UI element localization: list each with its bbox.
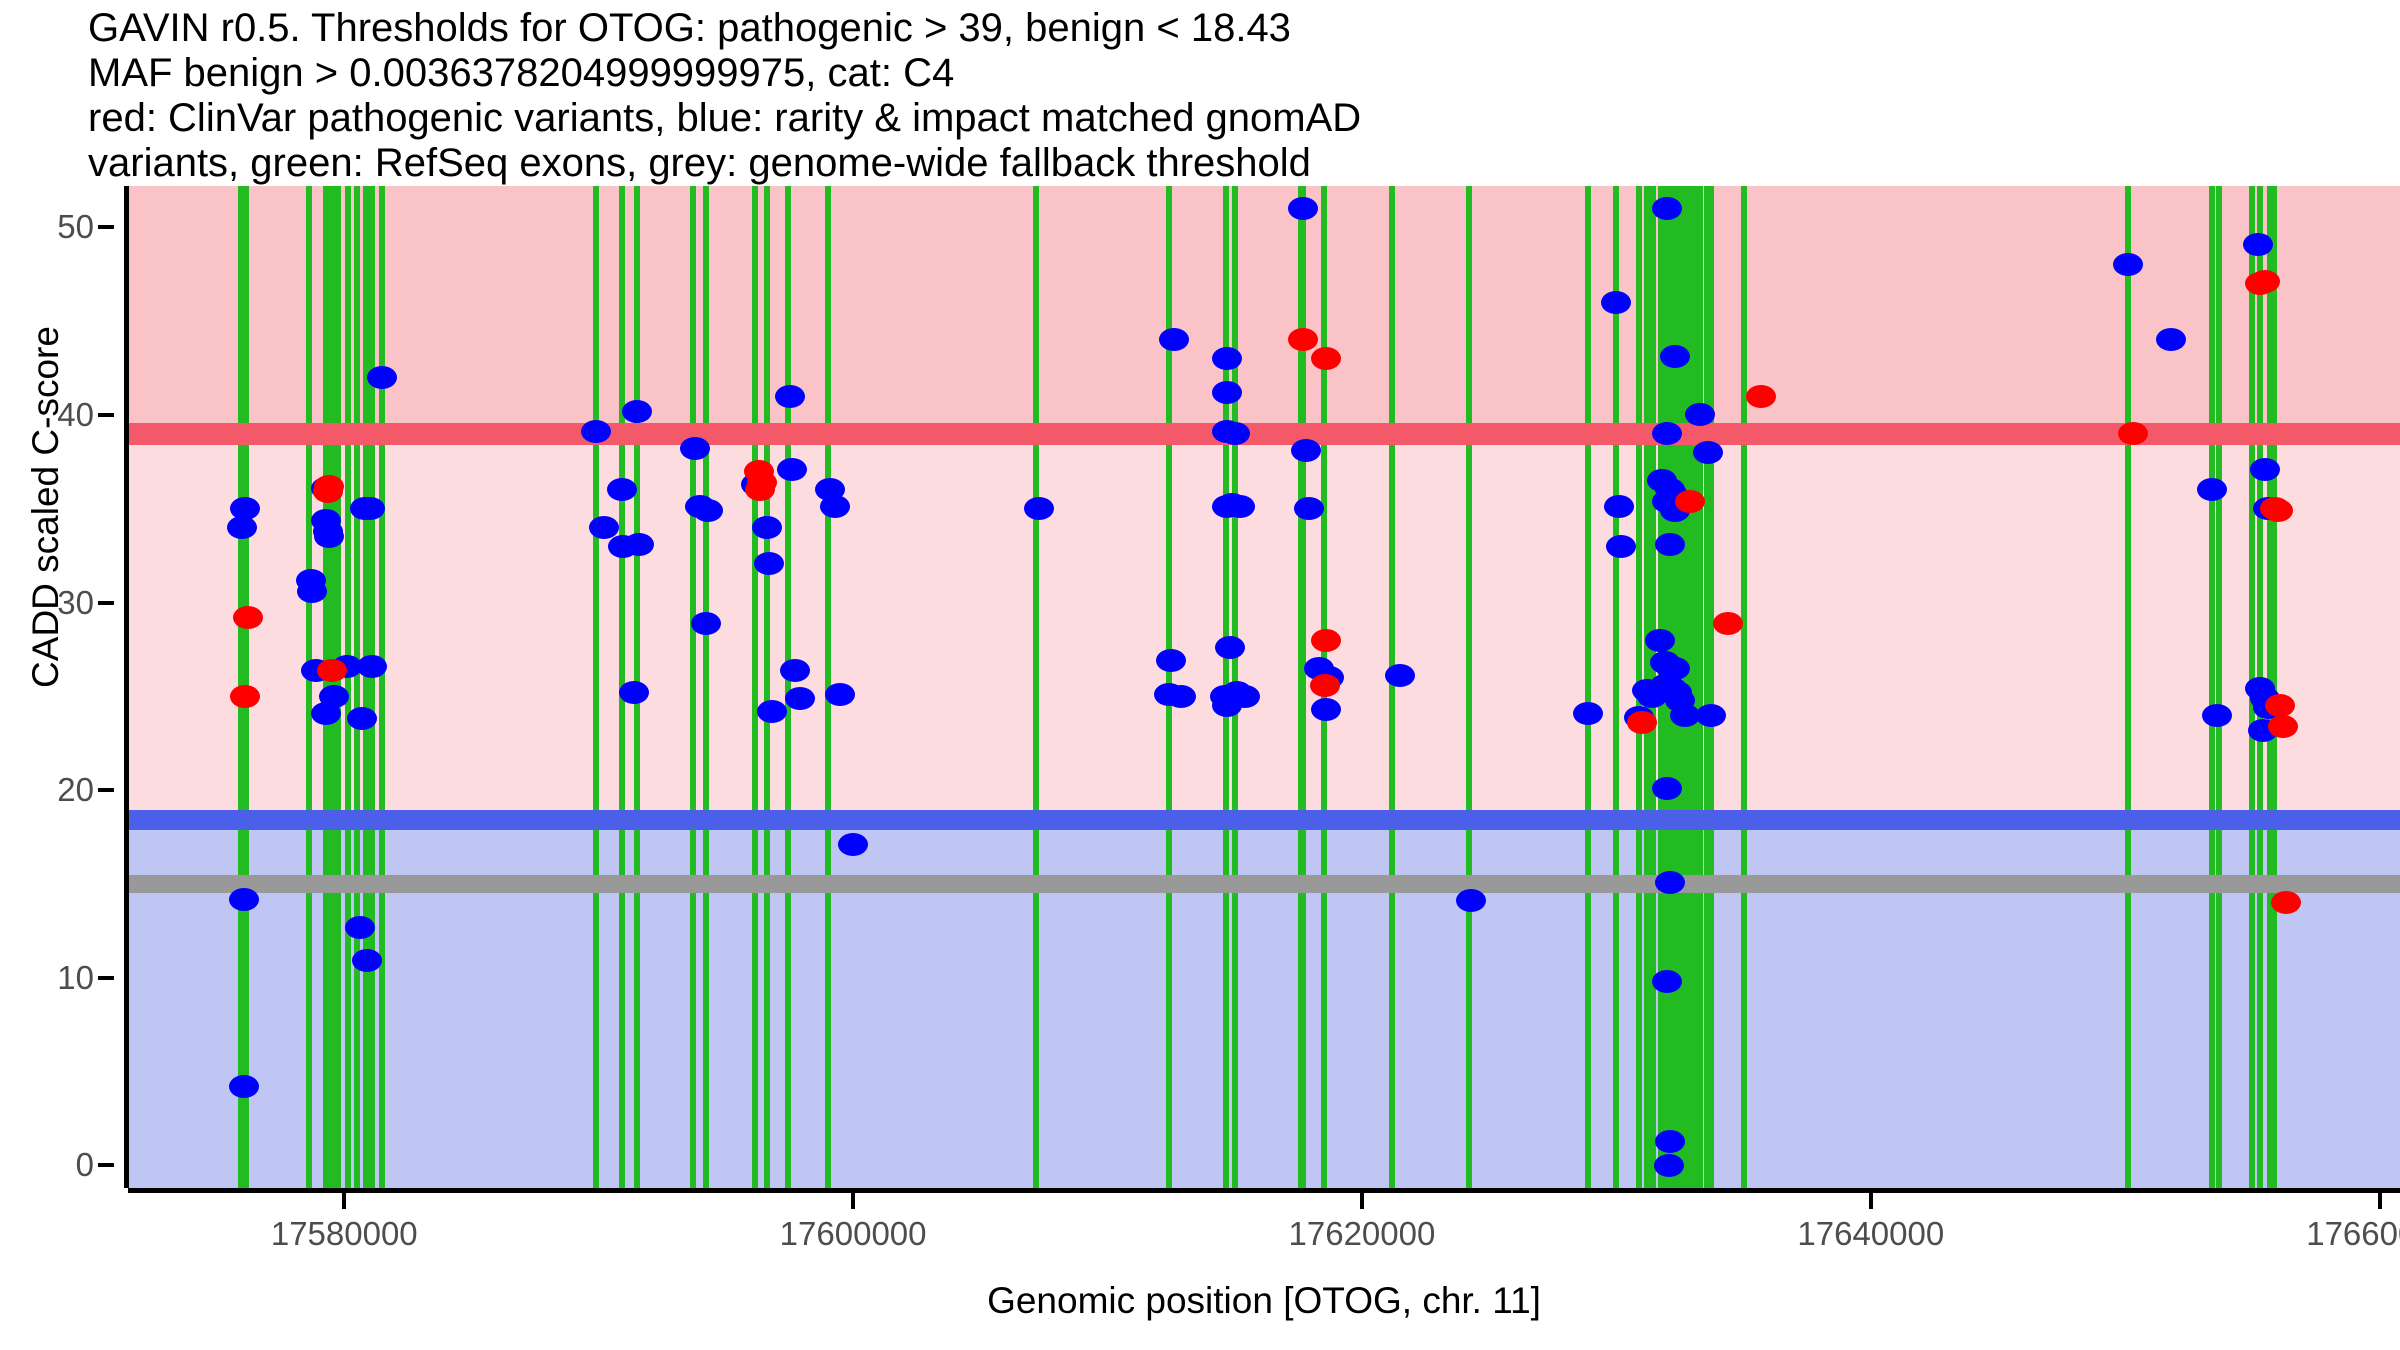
plot-panel bbox=[128, 186, 2400, 1188]
exon-line-37 bbox=[1708, 186, 1714, 1188]
data-point-clinvar-20 bbox=[2263, 499, 2293, 522]
data-point-gnomad-52 bbox=[1220, 422, 1250, 445]
exon-line-11 bbox=[379, 186, 385, 1188]
data-point-gnomad-36 bbox=[775, 385, 805, 408]
data-point-gnomad-44 bbox=[1024, 497, 1054, 520]
title-line-4: variants, green: RefSeq exons, grey: gen… bbox=[88, 141, 2388, 186]
y-tick-mark-30 bbox=[98, 601, 114, 605]
x-tick-label-17660000: 17660000 bbox=[2306, 1215, 2400, 1253]
data-point-gnomad-105 bbox=[2202, 704, 2232, 727]
data-point-gnomad-3 bbox=[229, 1075, 259, 1098]
data-point-clinvar-22 bbox=[2268, 715, 2298, 738]
exon-line-30 bbox=[1585, 186, 1591, 1188]
data-point-gnomad-102 bbox=[2113, 253, 2143, 276]
data-point-gnomad-23 bbox=[607, 478, 637, 501]
x-tick-mark-17640000 bbox=[1869, 1193, 1873, 1209]
y-tick-label-0: 0 bbox=[76, 1146, 94, 1184]
exon-line-8 bbox=[354, 186, 360, 1188]
exon-line-21 bbox=[1033, 186, 1039, 1188]
data-point-gnomad-94 bbox=[1652, 777, 1682, 800]
exon-line-10 bbox=[369, 186, 375, 1188]
data-point-gnomad-25 bbox=[622, 400, 652, 423]
data-point-gnomad-12 bbox=[319, 685, 349, 708]
data-point-clinvar-10 bbox=[1311, 629, 1341, 652]
data-point-gnomad-5 bbox=[297, 580, 327, 603]
data-point-gnomad-63 bbox=[1294, 497, 1324, 520]
x-tick-label-17640000: 17640000 bbox=[1797, 1215, 1944, 1253]
data-point-clinvar-16 bbox=[2118, 422, 2148, 445]
data-point-gnomad-48 bbox=[1166, 685, 1196, 708]
data-point-gnomad-85 bbox=[1645, 629, 1675, 652]
data-point-gnomad-84 bbox=[1655, 533, 1685, 556]
data-point-gnomad-97 bbox=[1655, 1130, 1685, 1153]
exon-line-39 bbox=[2125, 186, 2131, 1188]
exon-line-12 bbox=[593, 186, 599, 1188]
title-line-1: GAVIN r0.5. Thresholds for OTOG: pathoge… bbox=[88, 6, 2388, 51]
x-axis-label: Genomic position [OTOG, chr. 11] bbox=[128, 1280, 2400, 1322]
title-line-2: MAF benign > 0.0036378204999999975, cat:… bbox=[88, 51, 2388, 96]
data-point-gnomad-56 bbox=[1215, 636, 1245, 659]
exon-line-29 bbox=[1466, 186, 1472, 1188]
data-point-gnomad-19 bbox=[357, 655, 387, 678]
data-point-clinvar-12 bbox=[1627, 711, 1657, 734]
data-point-clinvar-23 bbox=[2271, 891, 2301, 914]
x-tick-label-17600000: 17600000 bbox=[780, 1215, 927, 1253]
exon-line-16 bbox=[703, 186, 709, 1188]
data-point-gnomad-106 bbox=[2243, 233, 2273, 256]
y-tick-mark-0 bbox=[98, 1163, 114, 1167]
y-axis-label: CADD scaled C-score bbox=[25, 57, 67, 957]
data-point-gnomad-31 bbox=[691, 612, 721, 635]
fallback-threshold-line bbox=[128, 875, 2400, 893]
exon-line-41 bbox=[2216, 186, 2222, 1188]
exon-line-2 bbox=[306, 186, 312, 1188]
data-point-clinvar-13 bbox=[1675, 490, 1705, 513]
data-point-gnomad-98 bbox=[1654, 1154, 1684, 1177]
exon-line-7 bbox=[345, 186, 351, 1188]
exon-line-18 bbox=[764, 186, 770, 1188]
data-point-gnomad-35 bbox=[757, 700, 787, 723]
x-tick-label-17580000: 17580000 bbox=[271, 1215, 418, 1253]
data-point-gnomad-107 bbox=[2250, 458, 2280, 481]
data-point-clinvar-14 bbox=[1713, 612, 1743, 635]
pathogenic-threshold-line bbox=[128, 423, 2400, 445]
y-tick-mark-40 bbox=[98, 413, 114, 417]
chart-figure: GAVIN r0.5. Thresholds for OTOG: pathoge… bbox=[0, 0, 2400, 1350]
exon-line-38 bbox=[1741, 186, 1747, 1188]
data-point-clinvar-3 bbox=[313, 480, 343, 503]
data-point-gnomad-100 bbox=[1693, 441, 1723, 464]
data-point-clinvar-11 bbox=[1310, 674, 1340, 697]
band-pathogenic-zone bbox=[128, 186, 2400, 434]
data-point-gnomad-37 bbox=[777, 458, 807, 481]
data-point-gnomad-34 bbox=[754, 552, 784, 575]
data-point-gnomad-60 bbox=[1230, 685, 1260, 708]
plot-area bbox=[128, 186, 2400, 1188]
exon-line-15 bbox=[690, 186, 696, 1188]
x-tick-mark-17660000 bbox=[2378, 1193, 2382, 1209]
data-point-gnomad-95 bbox=[1655, 871, 1685, 894]
exon-line-31 bbox=[1613, 186, 1619, 1188]
data-point-gnomad-72 bbox=[1606, 535, 1636, 558]
y-tick-label-10: 10 bbox=[57, 959, 94, 997]
data-point-gnomad-62 bbox=[1291, 439, 1321, 462]
data-point-gnomad-38 bbox=[780, 659, 810, 682]
data-point-gnomad-15 bbox=[345, 916, 375, 939]
benign-threshold-line bbox=[128, 810, 2400, 830]
x-tick-mark-17580000 bbox=[342, 1193, 346, 1209]
data-point-gnomad-39 bbox=[785, 687, 815, 710]
data-point-clinvar-4 bbox=[317, 659, 347, 682]
data-point-clinvar-0 bbox=[233, 606, 263, 629]
data-point-gnomad-22 bbox=[589, 516, 619, 539]
data-point-gnomad-50 bbox=[1212, 381, 1242, 404]
data-point-gnomad-18 bbox=[355, 497, 385, 520]
data-point-gnomad-69 bbox=[1573, 702, 1603, 725]
exon-line-35 bbox=[1697, 186, 1703, 1188]
exon-line-40 bbox=[2209, 186, 2215, 1188]
y-tick-mark-20 bbox=[98, 788, 114, 792]
x-tick-mark-17620000 bbox=[1360, 1193, 1364, 1209]
x-tick-label-17620000: 17620000 bbox=[1289, 1215, 1436, 1253]
data-point-gnomad-2 bbox=[229, 888, 259, 911]
y-tick-mark-10 bbox=[98, 976, 114, 980]
exon-line-17 bbox=[752, 186, 758, 1188]
data-point-clinvar-15 bbox=[1746, 385, 1776, 408]
y-tick-mark-50 bbox=[98, 225, 114, 229]
chart-title: GAVIN r0.5. Thresholds for OTOG: pathoge… bbox=[88, 6, 2388, 186]
data-point-gnomad-70 bbox=[1601, 291, 1631, 314]
exon-line-28 bbox=[1389, 186, 1395, 1188]
data-point-gnomad-45 bbox=[1159, 328, 1189, 351]
x-tick-mark-17600000 bbox=[851, 1193, 855, 1209]
band-vous-zone bbox=[128, 434, 2400, 820]
data-point-gnomad-101 bbox=[1696, 704, 1726, 727]
data-point-gnomad-33 bbox=[752, 516, 782, 539]
data-point-clinvar-1 bbox=[230, 685, 260, 708]
title-line-3: red: ClinVar pathogenic variants, blue: … bbox=[88, 96, 2388, 141]
exon-line-19 bbox=[785, 186, 791, 1188]
